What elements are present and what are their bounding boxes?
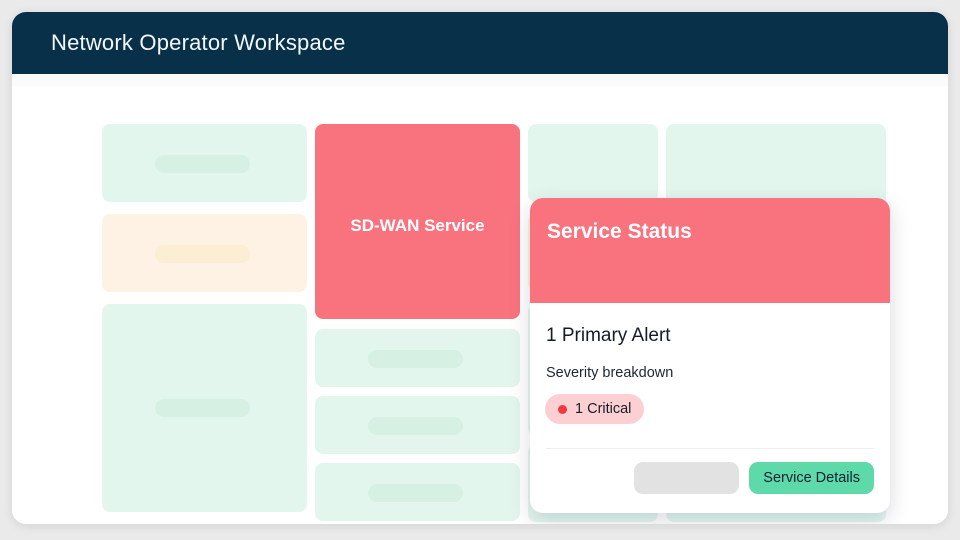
left-block-3-pill (155, 399, 250, 417)
mid-block-2-pill (368, 417, 463, 435)
critical-dot-icon (558, 405, 567, 414)
service-details-button[interactable]: Service Details (749, 462, 874, 494)
primary-alert-headline: 1 Primary Alert (546, 325, 671, 347)
severity-chip-critical[interactable]: 1 Critical (545, 394, 644, 424)
sd-wan-service-label: SD-WAN Service (315, 216, 520, 236)
service-status-title: Service Status (547, 220, 692, 244)
sd-wan-service-tile[interactable]: SD-WAN Service (315, 124, 520, 319)
mid-block-1-pill (368, 350, 463, 368)
card-action-row: Service Details (546, 461, 874, 495)
service-status-card-header: Service Status (530, 198, 890, 303)
application-window: Network Operator Workspace SD-WAN Servic… (12, 12, 948, 524)
dashboard-canvas: SD-WAN Service Service Status 1 Primary … (12, 86, 948, 524)
service-status-card: Service Status 1 Primary Alert Severity … (530, 198, 890, 513)
card-divider (546, 448, 874, 449)
severity-chip-label: 1 Critical (575, 401, 631, 417)
service-status-card-body: 1 Primary Alert Severity breakdown 1 Cri… (530, 303, 890, 513)
right-block-1 (528, 124, 658, 202)
mid-block-3-pill (368, 484, 463, 502)
severity-breakdown-label: Severity breakdown (546, 365, 673, 381)
left-block-1-pill (155, 155, 250, 173)
left-block-2-pill (155, 245, 250, 263)
secondary-action-button[interactable] (634, 462, 739, 494)
page-title: Network Operator Workspace (51, 30, 346, 56)
title-bar: Network Operator Workspace (12, 12, 948, 74)
